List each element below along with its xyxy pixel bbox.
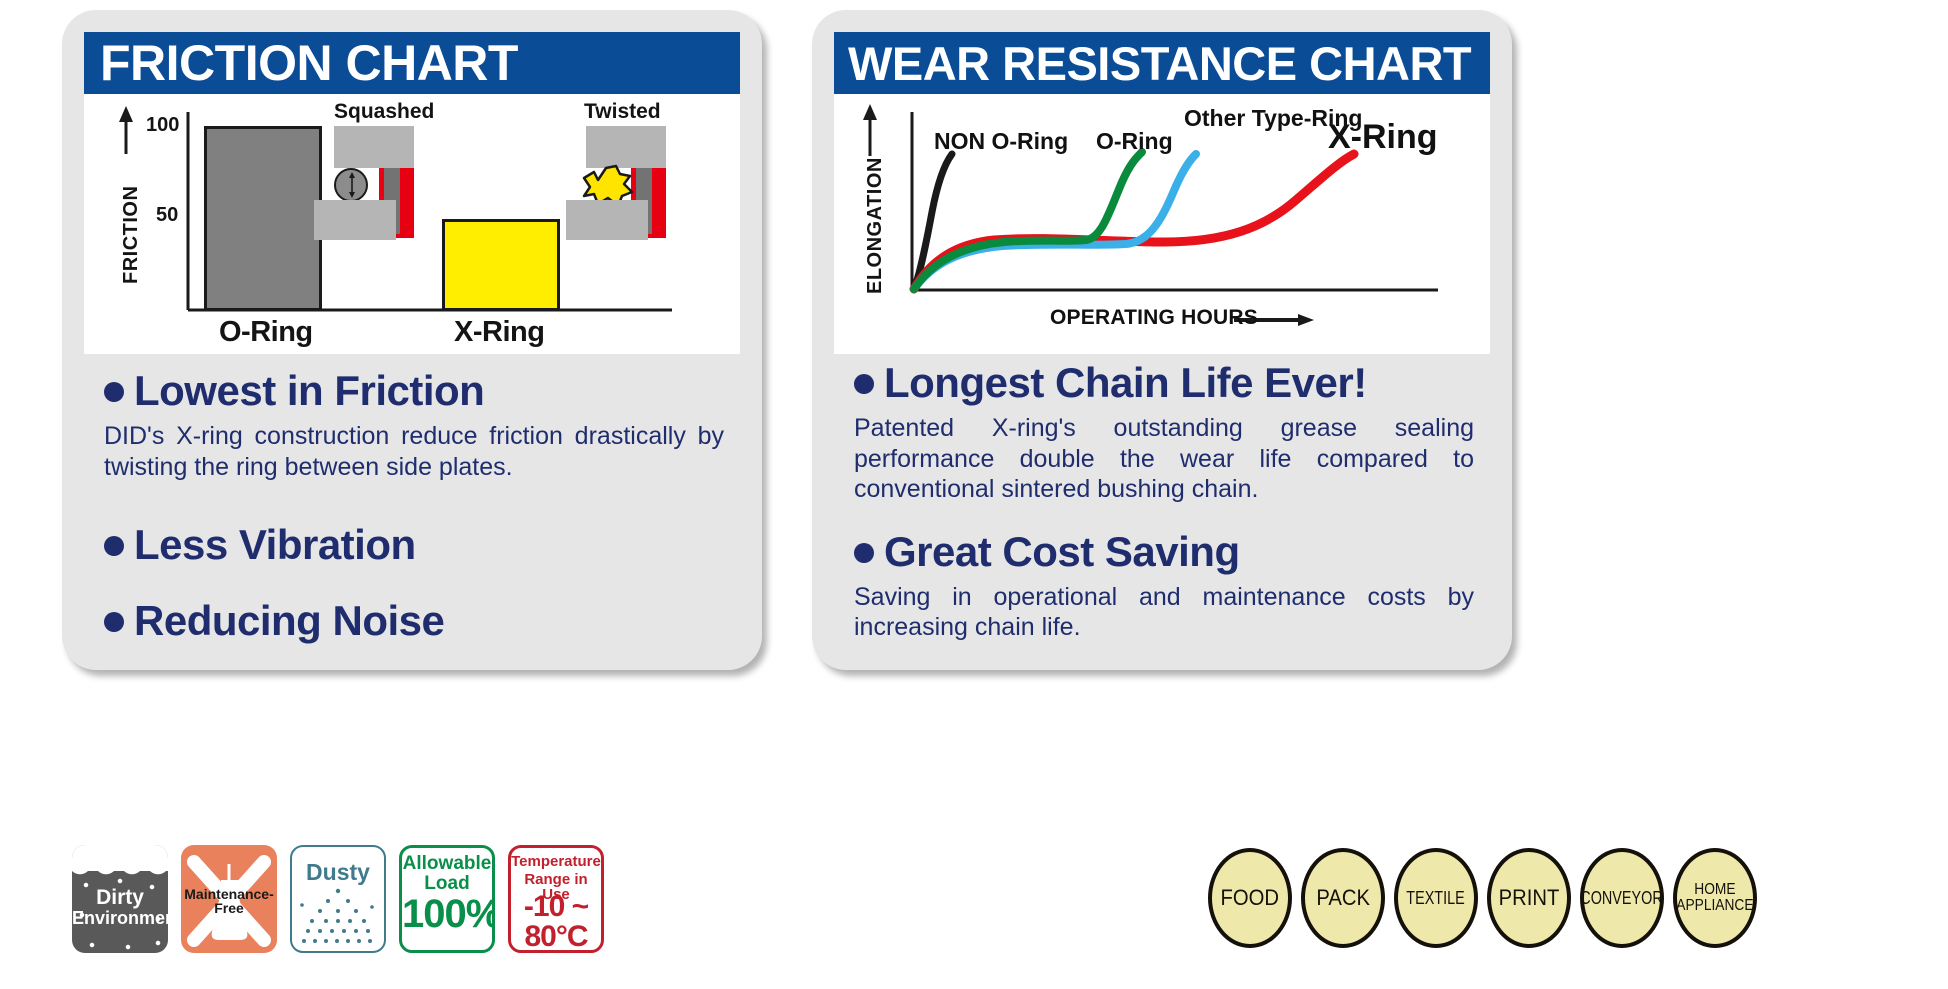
bullet-great-cost-saving: Great Cost Saving [854, 531, 1474, 573]
app-badge-print: PRINT [1487, 848, 1571, 948]
badge-allowable-load: Allowable Load 100% [399, 845, 495, 953]
badge-dusty-label: Dusty [292, 861, 384, 884]
friction-tick-100: 100 [146, 114, 179, 137]
bullet-dot-icon [104, 612, 124, 632]
wear-x-axis-title: OPERATING HOURS [1050, 306, 1258, 330]
wear-y-axis-title: ELONGATION [864, 157, 887, 294]
badge-temp-low: -10 ~ [511, 892, 601, 922]
bullet-heading: Reducing Noise [134, 600, 444, 642]
bullet-reducing-noise: Reducing Noise [104, 600, 724, 642]
squashed-diagram [324, 126, 444, 242]
curve-label-x-ring: X-Ring [1328, 118, 1438, 157]
bullet-dot-icon [104, 382, 124, 402]
wear-card-header: WEAR RESISTANCE CHART [834, 32, 1490, 94]
friction-category-o-ring: O-Ring [219, 316, 313, 349]
friction-tick-50: 50 [156, 204, 178, 227]
app-badge-textile: TEXTILE [1394, 848, 1478, 948]
badge-load-value: 100% [402, 894, 492, 934]
friction-bullets: Lowest in Friction DID's X-ring construc… [104, 370, 724, 642]
friction-chart-title: FRICTION CHART [84, 34, 518, 92]
wear-chart-title: WEAR RESISTANCE CHART [834, 36, 1471, 91]
bullet-lowest-in-friction: Lowest in Friction [104, 370, 724, 412]
bullet-heading: Longest Chain Life Ever! [884, 362, 1367, 404]
app-badge-label: PACK [1316, 887, 1370, 909]
badge-dirty-line2: Environment [72, 909, 168, 927]
dust-pile-icon [298, 887, 378, 949]
bullet-longest-chain-life: Longest Chain Life Ever! [854, 362, 1474, 404]
app-badge-label: HOME APPLIANCE [1676, 882, 1753, 914]
friction-card-header: FRICTION CHART [84, 32, 740, 94]
bullet-body-longest-chain-life: Patented X-ring's outstanding grease sea… [854, 413, 1474, 505]
badge-load-line1: Allowable [402, 854, 492, 873]
badge-temp-line1: Temperature [511, 854, 601, 869]
friction-y-axis-title: FRICTION [120, 186, 143, 284]
wear-bullets: Longest Chain Life Ever! Patented X-ring… [854, 362, 1474, 643]
wear-resistance-card: WEAR RESISTANCE CHART [812, 10, 1512, 670]
badge-load-line2: Load [402, 874, 492, 893]
app-badge-home-appliance: HOME APPLIANCE [1673, 848, 1757, 948]
bullet-body-great-cost-saving: Saving in operational and maintenance co… [854, 582, 1474, 643]
bullet-body-lowest-in-friction: DID's X-ring construction reduce frictio… [104, 421, 724, 482]
app-badge-pack: PACK [1301, 848, 1385, 948]
app-badge-label: FOOD [1221, 887, 1279, 909]
badge-maintenance-free: Maintenance-Free [181, 845, 277, 953]
gap-arrow-icon [346, 172, 358, 198]
bullet-dot-icon [104, 536, 124, 556]
twisted-diagram [576, 126, 696, 242]
infographic-root: FRICTION CHART FRICTION 100 50 O-Ring X-… [0, 0, 1948, 989]
badge-maintenance-free-label: Maintenance-Free [181, 887, 277, 915]
app-badge-food: FOOD [1208, 848, 1292, 948]
application-badges: FOOD PACK TEXTILE PRINT CONVEYOR HOME AP… [1208, 848, 1757, 948]
badge-dirty-environment: Dirty Environment [72, 845, 168, 953]
badge-dusty: Dusty [290, 845, 386, 953]
bullet-less-vibration: Less Vibration [104, 524, 724, 566]
badge-temperature-range: Temperature Range in Use -10 ~ 80°C [508, 845, 604, 953]
feature-badges: Dirty Environment Maintenance-Free Dusty [72, 845, 604, 953]
badge-dirty-line1: Dirty [72, 887, 168, 908]
app-badge-conveyor: CONVEYOR [1580, 848, 1664, 948]
friction-category-x-ring: X-Ring [454, 316, 544, 349]
bar-x-ring [442, 219, 560, 311]
curve-label-o-ring: O-Ring [1096, 128, 1173, 155]
curve-label-other-type-ring: Other Type-Ring [1184, 106, 1304, 130]
app-badge-label: PRINT [1499, 887, 1560, 909]
badge-temp-high: 80°C [511, 922, 601, 952]
wear-chart-plot-panel: ELONGATION NON O-Ring O-Ring Other Type-… [834, 94, 1490, 354]
bullet-dot-icon [854, 543, 874, 563]
squashed-diagram-label: Squashed [334, 100, 434, 124]
bullet-dot-icon [854, 374, 874, 394]
bullet-heading: Less Vibration [134, 524, 416, 566]
bullet-heading: Great Cost Saving [884, 531, 1240, 573]
app-badge-label: CONVEYOR [1581, 889, 1663, 907]
friction-card: FRICTION CHART FRICTION 100 50 O-Ring X-… [62, 10, 762, 670]
twisted-diagram-label: Twisted [584, 100, 661, 124]
app-badge-label: TEXTILE [1407, 889, 1465, 907]
friction-chart-plot-panel: FRICTION 100 50 O-Ring X-Ring Squashed [84, 94, 740, 354]
curve-label-non-o-ring: NON O-Ring [934, 128, 1068, 155]
bar-o-ring [204, 126, 322, 311]
bullet-heading: Lowest in Friction [134, 370, 484, 412]
